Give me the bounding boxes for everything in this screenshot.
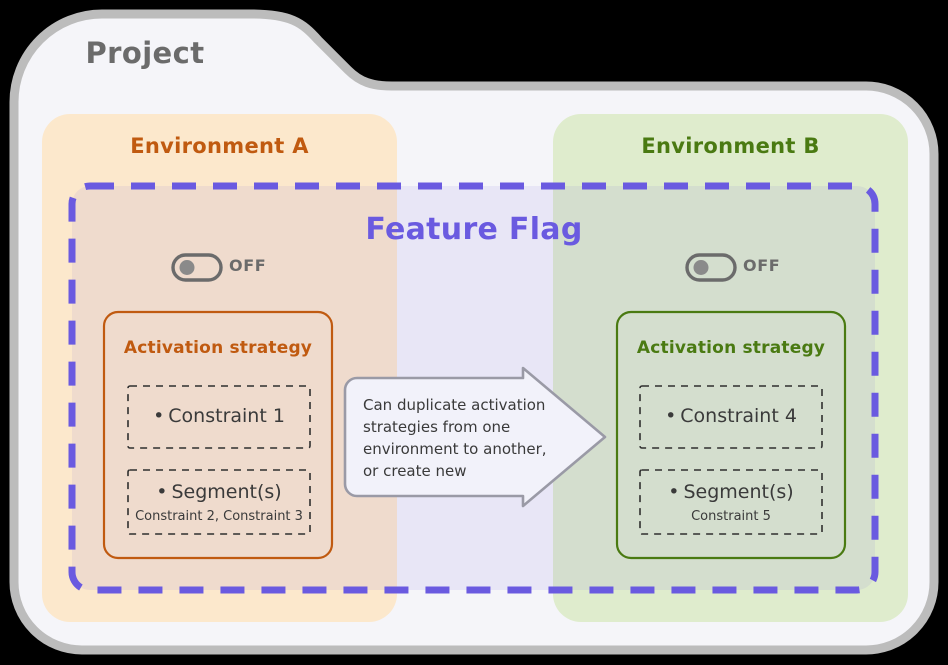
activation-strategy-a-title: Activation strategy xyxy=(104,338,332,358)
duplicate-strategy-arrow-text: Can duplicate activation strategies from… xyxy=(363,394,563,482)
bullet-icon: • xyxy=(668,481,679,503)
shapes-layer xyxy=(0,0,948,665)
environment-b-title: Environment B xyxy=(553,134,908,159)
bullet-icon: • xyxy=(156,481,167,503)
toggle-b-group[interactable]: OFF xyxy=(686,253,780,278)
bullet-icon: • xyxy=(153,405,164,427)
segment-item-b-label: Segment(s) xyxy=(683,481,793,503)
feature-flag-title: Feature Flag xyxy=(274,212,674,248)
segment-item-a-label: Segment(s) xyxy=(171,481,281,503)
project-title: Project xyxy=(0,36,290,71)
segment-item-a-sublabel: Constraint 2, Constraint 3 xyxy=(128,509,310,525)
toggle-a-hitbox[interactable] xyxy=(172,253,220,278)
toggle-a-state-label: OFF xyxy=(229,256,266,275)
diagram-canvas: Project Environment A Environment B Feat… xyxy=(0,0,948,665)
segment-item-b: •Segment(s) xyxy=(640,481,822,504)
toggle-a-group[interactable]: OFF xyxy=(172,253,266,278)
activation-strategy-b-title: Activation strategy xyxy=(617,338,845,358)
environment-a-title: Environment A xyxy=(42,134,397,159)
segment-item-a: •Segment(s) xyxy=(128,481,310,504)
constraint-item-a-label: Constraint 1 xyxy=(168,405,285,427)
toggle-b-state-label: OFF xyxy=(743,256,780,275)
segment-item-b-sublabel: Constraint 5 xyxy=(640,509,822,525)
toggle-b-hitbox[interactable] xyxy=(686,253,734,278)
constraint-item-b: •Constraint 4 xyxy=(640,405,822,428)
constraint-item-a: •Constraint 1 xyxy=(128,405,310,428)
bullet-icon: • xyxy=(665,405,676,427)
constraint-item-b-label: Constraint 4 xyxy=(680,405,797,427)
